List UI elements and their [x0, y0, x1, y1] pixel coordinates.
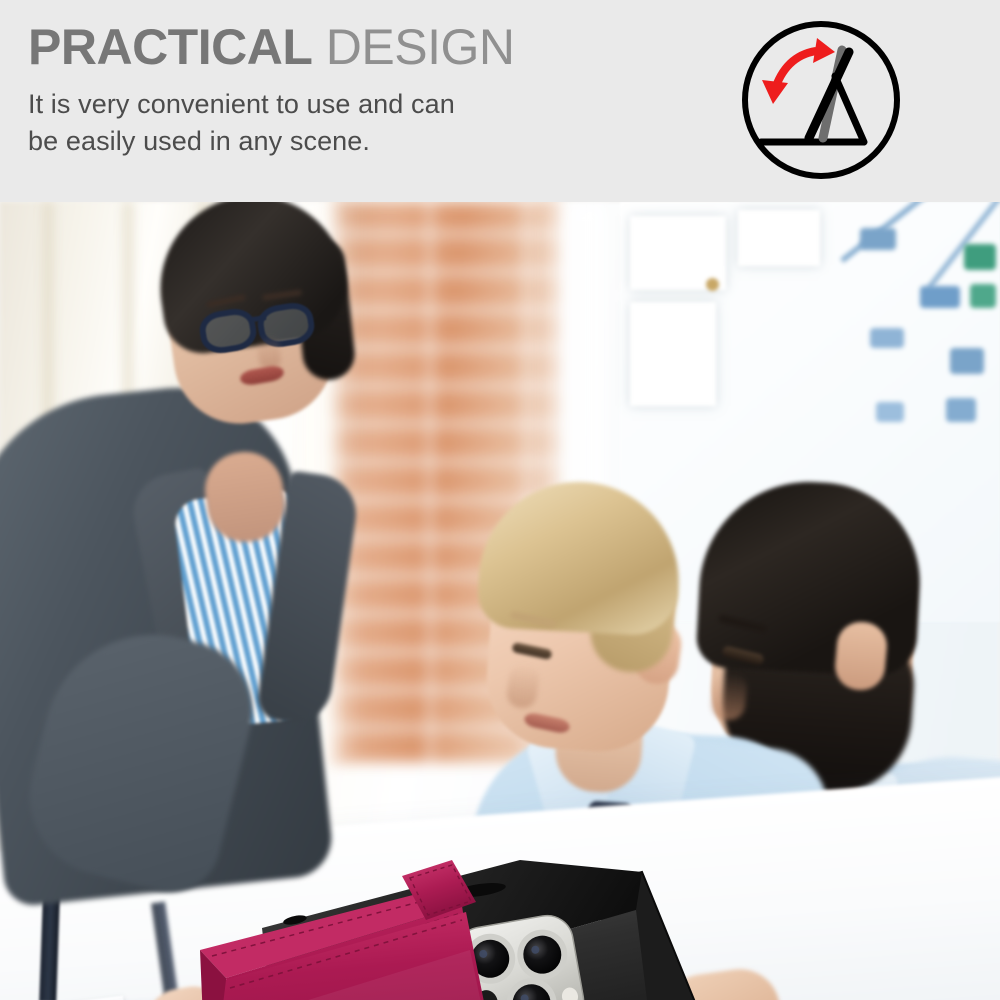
page-subtitle-line-2: be easily used in any scene.: [28, 123, 688, 160]
phone-wallet-case: [190, 832, 910, 1000]
whiteboard-ink-word: [946, 398, 976, 422]
adjustable-stand-angle-icon: [737, 16, 905, 184]
whiteboard-note: [738, 210, 820, 266]
page-subtitle: It is very convenient to use and can be …: [28, 86, 688, 160]
whiteboard-ink-word: [970, 284, 996, 308]
product-lifestyle-photo: [0, 202, 1000, 1000]
whiteboard-ink-stroke: [840, 202, 961, 263]
whiteboard-ink-word: [920, 286, 960, 308]
header-band: PRACTICAL DESIGN It is very convenient t…: [0, 0, 1000, 202]
product-marketing-banner: PRACTICAL DESIGN It is very convenient t…: [0, 0, 1000, 1000]
whiteboard-ink-word: [860, 228, 896, 250]
page-title: PRACTICAL DESIGN: [28, 18, 688, 76]
whiteboard-ink-word: [870, 328, 904, 348]
header-text-block: PRACTICAL DESIGN It is very convenient t…: [28, 18, 688, 160]
page-subtitle-line-1: It is very convenient to use and can: [28, 86, 688, 123]
whiteboard-ink-word: [876, 402, 904, 422]
whiteboard-pin: [706, 278, 719, 291]
whiteboard-ink-word: [964, 244, 996, 270]
whiteboard-ink-word: [950, 348, 984, 374]
whiteboard-note: [630, 302, 716, 406]
page-title-strong: PRACTICAL: [28, 19, 312, 75]
page-title-light: DESIGN: [326, 19, 515, 75]
